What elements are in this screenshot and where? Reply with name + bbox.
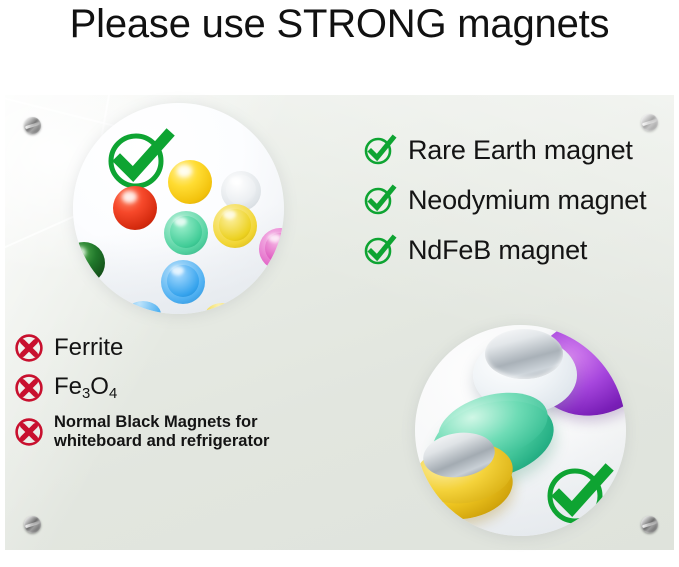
stud-bottom-right <box>641 516 658 533</box>
list-item: Rare Earth magnet <box>363 125 679 175</box>
check-circle-icon <box>103 123 177 195</box>
list-item: NdFeB magnet <box>363 225 679 275</box>
clear-disc-magnet-core <box>485 329 563 379</box>
list-item-label: Normal Black Magnets forwhiteboard and r… <box>54 413 269 451</box>
list-item: Neodymium magnet <box>363 175 679 225</box>
colorful-magnets-photo <box>73 103 284 314</box>
list-item-label: Rare Earth magnet <box>408 135 633 166</box>
forbidden-magnet-list: Ferrite Fe3O4 Normal Black Magnets forwh… <box>14 333 344 461</box>
blue-disc-magnet <box>161 260 205 304</box>
page-title: Please use STRONG magnets <box>0 0 679 52</box>
list-item-label: Fe3O4 <box>54 373 117 402</box>
red-sphere-magnet <box>113 186 157 230</box>
neodymium-disc-magnets-photo <box>415 325 626 536</box>
approved-magnet-list: Rare Earth magnet Neodymium magnet NdFeB… <box>363 125 679 275</box>
check-circle-icon <box>363 233 397 267</box>
green-disc-magnet <box>164 211 208 255</box>
x-circle-icon <box>14 373 44 403</box>
stud-bottom-left <box>24 516 41 533</box>
list-item-label: Ferrite <box>54 334 123 362</box>
stud-top-left <box>24 117 41 134</box>
check-circle-icon <box>363 133 397 167</box>
yellow-disc-magnet <box>213 204 257 248</box>
list-item: Fe3O4 <box>14 373 344 403</box>
list-item: Normal Black Magnets forwhiteboard and r… <box>14 413 344 451</box>
list-item: Ferrite <box>14 333 344 363</box>
x-circle-icon <box>14 417 44 447</box>
x-circle-icon <box>14 333 44 363</box>
poster-canvas: Please use STRONG magnets <box>0 0 679 567</box>
list-item-label: NdFeB magnet <box>408 235 587 266</box>
check-circle-icon <box>542 458 616 530</box>
check-circle-icon <box>363 183 397 217</box>
yellow-sphere-magnet <box>168 160 212 204</box>
list-item-label: Neodymium magnet <box>408 185 646 216</box>
